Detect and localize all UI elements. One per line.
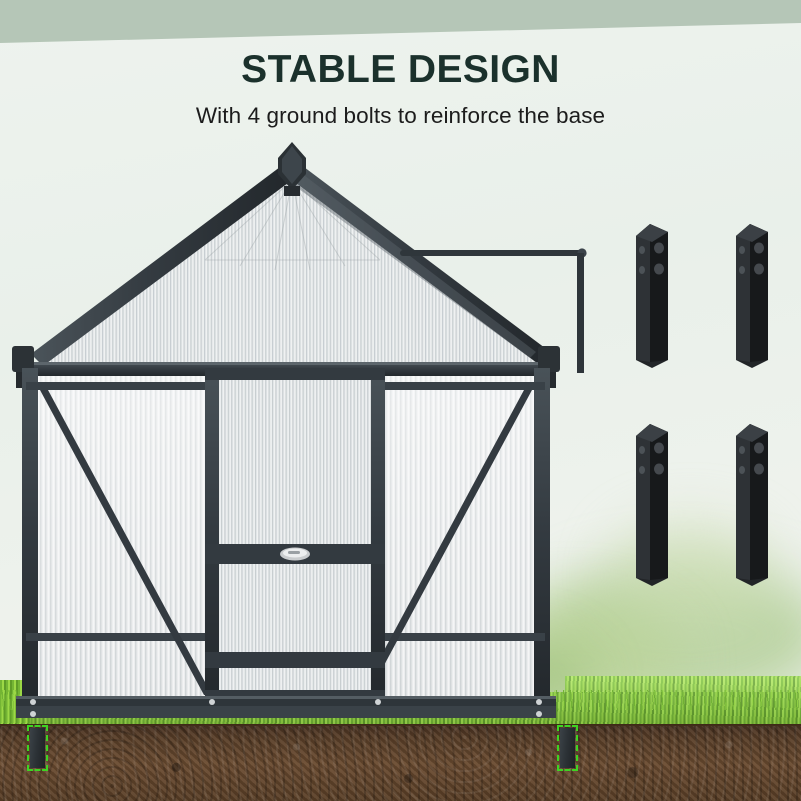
page-title: STABLE DESIGN (0, 48, 801, 92)
ground-bolt-bottom-right (728, 418, 774, 588)
product-feature-image: STABLE DESIGN With 4 ground bolts to rei… (0, 0, 801, 801)
page-subtitle: With 4 ground bolts to reinforce the bas… (0, 103, 801, 129)
ground-bolt-bottom-left (628, 418, 674, 588)
ground-bolt-top-left (628, 218, 674, 368)
door-panel-upper (219, 376, 371, 544)
door-panel-mid (219, 564, 371, 652)
soil-cross-section (0, 726, 801, 801)
door (205, 368, 385, 702)
corner-post-left (22, 368, 38, 702)
greenhouse-illustration (0, 140, 620, 715)
installed-bolt-right-highlight (557, 725, 578, 771)
door-handle-icon[interactable] (280, 548, 310, 561)
installed-bolt-right (560, 728, 575, 768)
base-rail (16, 696, 556, 718)
installed-bolt-left (30, 728, 45, 768)
door-rail-top (205, 368, 385, 380)
door-rail-mid (205, 652, 385, 668)
corner-post-right (534, 368, 550, 702)
installed-bolt-left-highlight (27, 725, 48, 771)
ground-bolt-top-right (728, 218, 774, 368)
